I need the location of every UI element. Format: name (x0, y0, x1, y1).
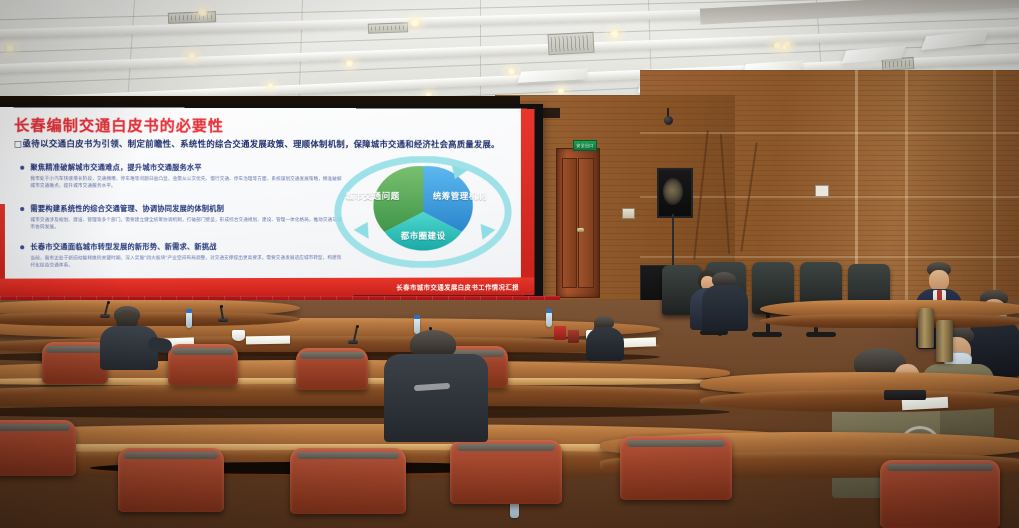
ceiling-downlight (780, 44, 789, 50)
presentation-slide[interactable]: 长春编制交通白皮书的必要性 □亟待以交通白皮书为引领、制定前瞻性、系统性的综合交… (0, 107, 535, 297)
desk-tier-mid-shadow (0, 406, 730, 418)
wall-plate-icon (815, 185, 829, 197)
document-paper (246, 336, 290, 345)
desk-tier-back-front (0, 312, 300, 326)
audience-chair[interactable] (880, 460, 1000, 528)
wall-outlet-plate (622, 208, 635, 219)
conference-room-scene: 长春编制交通白皮书的必要性 □亟待以交通白皮书为引领、制定前瞻性、系统性的综合交… (0, 0, 1019, 528)
ceiling-downlight (4, 44, 16, 52)
ceiling-downlight (344, 60, 355, 67)
slide-lead-text: □亟待以交通白皮书为引领、制定前瞻性、系统性的综合交通发展政策、理顺体制机制，保… (14, 137, 514, 150)
nameplate (568, 330, 579, 343)
slide-diagram: 城市交通问题 统筹管理机制 都市圈建设 (332, 156, 515, 268)
speaker-cone-icon (663, 178, 683, 205)
chair-base (752, 332, 782, 337)
bullet-body: 我市处于小汽车快速增长阶段，交通拥堵、停车难等问题日益凸显，亟需从公交优先、慢行… (30, 176, 341, 190)
ceiling-vent (547, 32, 594, 55)
audience-chair[interactable] (168, 344, 238, 386)
ceiling-downlight (196, 8, 209, 16)
bottle-cap (186, 309, 192, 313)
door-panel (562, 158, 577, 288)
exit-sign-icon: 安全出口 (573, 140, 597, 151)
bottle-cap (414, 315, 420, 319)
wall-band (640, 132, 1019, 134)
slide-title: 长春编制交通白皮书的必要性 (14, 114, 224, 136)
ceiling-downlight (186, 52, 198, 60)
laptop[interactable] (884, 390, 926, 400)
bullet-head: 聚焦精准破解城市交通难点，提升城市交通服务水平 (30, 163, 201, 173)
audience-chair[interactable] (296, 348, 368, 390)
audience-chair[interactable] (0, 420, 76, 476)
speaker-cable (672, 214, 674, 266)
bullet-body: 当前，我市正处于新旧动能转换的关键时期，深入实施"四大板块"产业空间布局调整，对… (30, 255, 341, 270)
bullet-dot-icon (20, 166, 24, 170)
door-panel (578, 158, 594, 288)
ceiling-downlight (506, 68, 517, 75)
bullet-dot-icon (20, 245, 24, 249)
tea-cup (232, 330, 245, 341)
bullet-head: 长春市交通面临城市转型发展的新形势、新需求、新挑战 (30, 242, 216, 252)
slide-bullet-2: 需要构建系统性的综合交通管理、协调协同发展的体制机制 城市交通涉及规划、建设、管… (20, 204, 342, 231)
bullet-dot-icon (20, 207, 24, 211)
bullet-head: 需要构建系统性的综合交通管理、协调协同发展的体制机制 (30, 204, 224, 214)
slide-accent-bar-left (0, 204, 5, 285)
door-handle[interactable] (577, 228, 584, 232)
slide-footer-bar: 长春市城市交通发展白皮书工作情况汇报 (0, 277, 535, 296)
ceiling-downlight (408, 18, 422, 27)
slide-bullet-3: 长春市交通面临城市转型发展的新形势、新需求、新挑战 当前，我市正处于新旧动能转换… (20, 242, 342, 270)
thermos-flask (918, 308, 934, 348)
bullet-body: 城市交通涉及规划、建设、管理等多个部门，需要建立健全统筹协调机制，打破部门壁垒，… (30, 217, 341, 231)
audience-chair[interactable] (620, 436, 732, 500)
audience-chair[interactable] (290, 448, 406, 514)
wall-band (640, 196, 1019, 198)
slide-bullet-1: 聚焦精准破解城市交通难点，提升城市交通服务水平 我市处于小汽车快速增长阶段，交通… (20, 163, 342, 191)
audience-chair[interactable] (118, 448, 224, 512)
diagram-svg (332, 156, 515, 268)
wall-band (640, 256, 1019, 258)
ceiling-vent (168, 11, 216, 24)
camera-icon (664, 116, 673, 125)
ceiling-vent (368, 22, 408, 33)
exit-sign-label: 安全出口 (576, 143, 593, 149)
bottle-cap (546, 309, 552, 313)
slide-footer-text: 长春市城市交通发展白皮书工作情况汇报 (396, 281, 534, 291)
desk-right-back-front (760, 314, 1019, 328)
slide-accent-bar-right (521, 109, 535, 284)
water-bottle (186, 312, 192, 328)
ceiling-downlight (608, 30, 621, 38)
ceiling-downlight (556, 88, 566, 94)
ceiling-downlight (266, 83, 275, 89)
nameplate (554, 326, 566, 340)
desk-right-mid-front (700, 390, 1019, 412)
audience-chair[interactable] (450, 440, 562, 504)
chair-base (806, 332, 836, 337)
water-bottle (546, 312, 552, 327)
audience-chair[interactable] (42, 342, 108, 384)
thermos-flask (936, 320, 953, 362)
